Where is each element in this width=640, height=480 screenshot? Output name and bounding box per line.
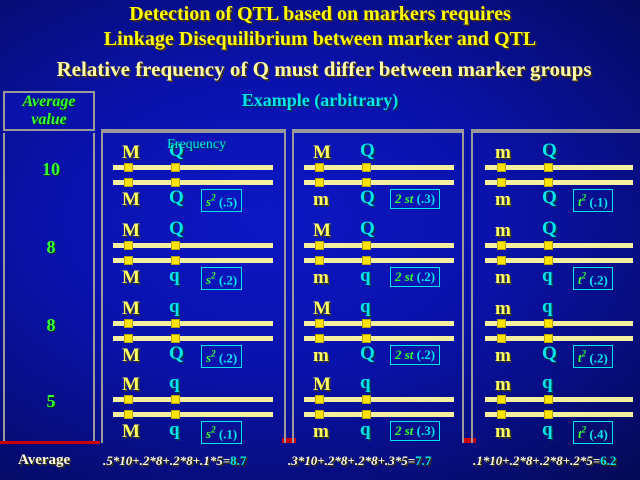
- average-value-row-2: 8: [5, 237, 97, 258]
- frequency-box: t2 (.2): [573, 267, 613, 290]
- qtl-locus-bottom: [362, 334, 371, 343]
- marker-group-panel-Mm: MQmQ2 st (.3)MQmq2 st (.2)MqmQ2 st (.2)M…: [292, 131, 464, 443]
- average-formula-result: 6.2: [600, 453, 616, 468]
- frequency-symbol: t2: [578, 426, 586, 441]
- chromosome-bar-bottom: [304, 336, 454, 341]
- genotype-diagram: MqMQs2 (.2): [103, 293, 284, 367]
- average-value-header-line1: Average: [5, 93, 93, 111]
- frequency-value: (.2): [586, 350, 608, 365]
- bottom-marker-allele: M: [122, 268, 140, 287]
- marker-locus-bottom: [315, 334, 324, 343]
- marker-locus-bottom: [124, 334, 133, 343]
- marker-locus-bottom: [497, 410, 506, 419]
- chromosome-bar-top: [304, 243, 454, 248]
- bottom-qtl-allele: q: [360, 420, 371, 439]
- marker-locus-bottom: [315, 410, 324, 419]
- bottom-marker-allele: m: [313, 268, 329, 287]
- bottom-marker-allele: M: [122, 422, 140, 441]
- bottom-marker-allele: M: [122, 190, 140, 209]
- marker-locus-top: [497, 241, 506, 250]
- frequency-value: (.3): [413, 423, 435, 438]
- average-formula-expression: .3*10+.2*8+.2*8+.3*5=: [288, 453, 415, 468]
- frequency-box: 2 st (.2): [390, 267, 440, 287]
- bottom-marker-allele: m: [495, 346, 511, 365]
- qtl-locus-top: [544, 241, 553, 250]
- chromosome-bar-top: [304, 321, 454, 326]
- frequency-symbol: s2: [206, 426, 216, 441]
- bottom-marker-allele: m: [313, 346, 329, 365]
- marker-locus-bottom: [497, 334, 506, 343]
- genotype-diagram: MqmQ2 st (.2): [294, 293, 462, 367]
- qtl-locus-top: [362, 241, 371, 250]
- title-line-2: Linkage Disequilibrium between marker an…: [0, 27, 640, 52]
- qtl-locus-bottom: [171, 334, 180, 343]
- qtl-locus-bottom: [171, 178, 180, 187]
- average-value-row-4: 5: [5, 391, 97, 412]
- frequency-box: t2 (.2): [573, 345, 613, 368]
- genotype-diagram: mQmqt2 (.2): [473, 215, 640, 289]
- frequency-symbol: t2: [578, 350, 586, 365]
- average-value-column: 10 8 8 5: [3, 133, 95, 441]
- top-qtl-allele: Q: [169, 219, 184, 238]
- frequency-value: (.2): [586, 272, 608, 287]
- frequency-value: (.2): [216, 272, 238, 287]
- frequency-symbol: 2 st: [395, 191, 413, 206]
- marker-locus-top: [497, 395, 506, 404]
- top-qtl-allele: q: [169, 297, 180, 316]
- qtl-locus-top: [544, 395, 553, 404]
- frequency-box: s2 (.1): [201, 421, 242, 444]
- top-marker-allele: M: [313, 299, 331, 318]
- top-marker-allele: m: [495, 221, 511, 240]
- slide-canvas: Detection of QTL based on markers requir…: [0, 0, 640, 480]
- frequency-value: (.4): [586, 426, 608, 441]
- marker-locus-top: [315, 395, 324, 404]
- frequency-value: (.2): [413, 269, 435, 284]
- frequency-symbol: 2 st: [395, 269, 413, 284]
- qtl-locus-top: [362, 163, 371, 172]
- frequency-box: 2 st (.3): [390, 421, 440, 441]
- genotype-diagram: mQmQt2 (.1): [473, 137, 640, 211]
- bottom-qtl-allele: Q: [169, 188, 184, 207]
- average-value-header: Average value: [3, 91, 95, 131]
- frequency-box: s2 (.2): [201, 345, 242, 368]
- qtl-locus-top: [544, 319, 553, 328]
- chromosome-bar-bottom: [485, 412, 633, 417]
- average-formula-result: 7.7: [415, 453, 431, 468]
- qtl-locus-bottom: [171, 256, 180, 265]
- chromosome-bar-top: [485, 397, 633, 402]
- bottom-qtl-allele: q: [169, 266, 180, 285]
- frequency-box: s2 (.5): [201, 189, 242, 212]
- average-formula-expression: .1*10+.2*8+.2*8+.2*5=: [473, 453, 600, 468]
- chromosome-bar-top: [113, 397, 273, 402]
- genotype-diagram: MQMqs2 (.2): [103, 215, 284, 289]
- chromosome-bar-bottom: [485, 336, 633, 341]
- top-marker-allele: M: [313, 375, 331, 394]
- chromosome-bar-top: [113, 243, 273, 248]
- bottom-marker-allele: m: [313, 190, 329, 209]
- qtl-locus-bottom: [362, 178, 371, 187]
- chromosome-bar-bottom: [113, 336, 273, 341]
- example-label: Example (arbitrary): [105, 90, 535, 111]
- top-qtl-allele: q: [542, 373, 553, 392]
- top-marker-allele: M: [122, 299, 140, 318]
- average-formula-MM: .5*10+.2*8+.2*8+.1*5=8.7: [103, 453, 246, 469]
- frequency-box: t2 (.4): [573, 421, 613, 444]
- bottom-marker-allele: m: [495, 422, 511, 441]
- chromosome-bar-bottom: [113, 180, 273, 185]
- frequency-box: t2 (.1): [573, 189, 613, 212]
- qtl-locus-top: [362, 319, 371, 328]
- bottom-marker-allele: M: [122, 346, 140, 365]
- frequency-value: (.5): [216, 194, 238, 209]
- bottom-qtl-allele: q: [542, 420, 553, 439]
- marker-locus-bottom: [315, 178, 324, 187]
- top-qtl-allele: Q: [360, 219, 375, 238]
- marker-locus-top: [124, 241, 133, 250]
- frequency-symbol: 2 st: [395, 423, 413, 438]
- top-marker-allele: M: [313, 143, 331, 162]
- top-marker-allele: m: [495, 375, 511, 394]
- genotype-diagram: mqmQt2 (.2): [473, 293, 640, 367]
- chromosome-bar-bottom: [304, 180, 454, 185]
- marker-locus-bottom: [315, 256, 324, 265]
- chromosome-bar-bottom: [113, 412, 273, 417]
- marker-locus-top: [124, 163, 133, 172]
- marker-locus-bottom: [497, 256, 506, 265]
- bottom-qtl-allele: q: [542, 266, 553, 285]
- qtl-locus-top: [171, 163, 180, 172]
- average-value-row-1: 10: [5, 159, 97, 180]
- bottom-marker-allele: m: [495, 268, 511, 287]
- bottom-qtl-allele: q: [169, 420, 180, 439]
- chromosome-bar-top: [485, 165, 633, 170]
- chromosome-bar-bottom: [113, 258, 273, 263]
- average-value-header-line2: value: [5, 111, 93, 129]
- genotype-diagram: mqmqt2 (.4): [473, 369, 640, 443]
- frequency-value: (.2): [413, 347, 435, 362]
- bottom-qtl-allele: Q: [542, 188, 557, 207]
- qtl-locus-top: [171, 395, 180, 404]
- chromosome-bar-bottom: [485, 258, 633, 263]
- chromosome-bar-top: [304, 165, 454, 170]
- qtl-locus-bottom: [544, 410, 553, 419]
- frequency-label: Frequency: [167, 137, 226, 153]
- qtl-locus-bottom: [362, 410, 371, 419]
- top-qtl-allele: Q: [360, 141, 375, 160]
- marker-locus-bottom: [124, 178, 133, 187]
- slide-subtitle: Relative frequency of Q must differ betw…: [0, 56, 640, 82]
- top-qtl-allele: q: [360, 297, 371, 316]
- bottom-marker-allele: m: [313, 422, 329, 441]
- frequency-value: (.1): [216, 426, 238, 441]
- chromosome-bar-top: [485, 243, 633, 248]
- chromosome-bar-top: [113, 165, 273, 170]
- average-formula-mm: .1*10+.2*8+.2*8+.2*5=6.2: [473, 453, 616, 469]
- genotype-diagram: MQmq2 st (.2): [294, 215, 462, 289]
- genotype-diagram: MQmQ2 st (.3): [294, 137, 462, 211]
- frequency-value: (.3): [413, 191, 435, 206]
- slide-title: Detection of QTL based on markers requir…: [0, 2, 640, 52]
- marker-locus-bottom: [497, 178, 506, 187]
- marker-locus-top: [124, 395, 133, 404]
- bottom-qtl-allele: q: [360, 266, 371, 285]
- marker-locus-bottom: [124, 256, 133, 265]
- top-marker-allele: M: [122, 375, 140, 394]
- qtl-locus-top: [171, 241, 180, 250]
- average-formula-expression: .5*10+.2*8+.2*8+.1*5=: [103, 453, 230, 468]
- title-line-1: Detection of QTL based on markers requir…: [0, 2, 640, 27]
- top-qtl-allele: q: [169, 373, 180, 392]
- bottom-marker-allele: m: [495, 190, 511, 209]
- marker-group-panel-MM: MQMQs2 (.5)MQMqs2 (.2)MqMQs2 (.2)MqMqs2 …: [101, 131, 286, 443]
- marker-locus-top: [315, 241, 324, 250]
- marker-group-panel-mm: mQmQt2 (.1)mQmqt2 (.2)mqmQt2 (.2)mqmqt2 …: [471, 131, 640, 443]
- average-formula-Mm: .3*10+.2*8+.2*8+.3*5=7.7: [288, 453, 431, 469]
- top-marker-allele: M: [122, 143, 140, 162]
- qtl-locus-top: [362, 395, 371, 404]
- red-divider-line: [0, 441, 100, 444]
- frequency-value: (.1): [586, 194, 608, 209]
- marker-locus-top: [497, 319, 506, 328]
- genotype-diagram: MqMqs2 (.1): [103, 369, 284, 443]
- qtl-locus-top: [171, 319, 180, 328]
- frequency-box: s2 (.2): [201, 267, 242, 290]
- average-formula-result: 8.7: [230, 453, 246, 468]
- top-marker-allele: M: [313, 221, 331, 240]
- top-qtl-allele: q: [360, 373, 371, 392]
- marker-locus-bottom: [124, 410, 133, 419]
- top-qtl-allele: Q: [542, 141, 557, 160]
- frequency-symbol: 2 st: [395, 347, 413, 362]
- frequency-box: 2 st (.3): [390, 189, 440, 209]
- marker-locus-top: [315, 163, 324, 172]
- top-qtl-allele: Q: [542, 219, 557, 238]
- top-marker-allele: m: [495, 299, 511, 318]
- chromosome-bar-bottom: [485, 180, 633, 185]
- average-row-label: Average: [18, 452, 70, 469]
- frequency-value: (.2): [216, 350, 238, 365]
- qtl-locus-bottom: [362, 256, 371, 265]
- frequency-symbol: t2: [578, 272, 586, 287]
- qtl-locus-bottom: [544, 256, 553, 265]
- frequency-symbol: s2: [206, 272, 216, 287]
- frequency-box: 2 st (.2): [390, 345, 440, 365]
- chromosome-bar-top: [485, 321, 633, 326]
- bottom-qtl-allele: Q: [360, 188, 375, 207]
- genotype-diagram: Mqmq2 st (.3): [294, 369, 462, 443]
- chromosome-bar-top: [304, 397, 454, 402]
- chromosome-bar-bottom: [304, 412, 454, 417]
- bottom-qtl-allele: Q: [360, 344, 375, 363]
- top-qtl-allele: q: [542, 297, 553, 316]
- qtl-locus-bottom: [171, 410, 180, 419]
- bottom-qtl-allele: Q: [169, 344, 184, 363]
- top-marker-allele: m: [495, 143, 511, 162]
- average-value-row-3: 8: [5, 315, 97, 336]
- top-marker-allele: M: [122, 221, 140, 240]
- marker-locus-top: [124, 319, 133, 328]
- marker-locus-top: [315, 319, 324, 328]
- qtl-locus-bottom: [544, 334, 553, 343]
- frequency-symbol: s2: [206, 194, 216, 209]
- chromosome-bar-top: [113, 321, 273, 326]
- marker-locus-top: [497, 163, 506, 172]
- qtl-locus-top: [544, 163, 553, 172]
- frequency-symbol: t2: [578, 194, 586, 209]
- frequency-symbol: s2: [206, 350, 216, 365]
- bottom-qtl-allele: Q: [542, 344, 557, 363]
- chromosome-bar-bottom: [304, 258, 454, 263]
- qtl-locus-bottom: [544, 178, 553, 187]
